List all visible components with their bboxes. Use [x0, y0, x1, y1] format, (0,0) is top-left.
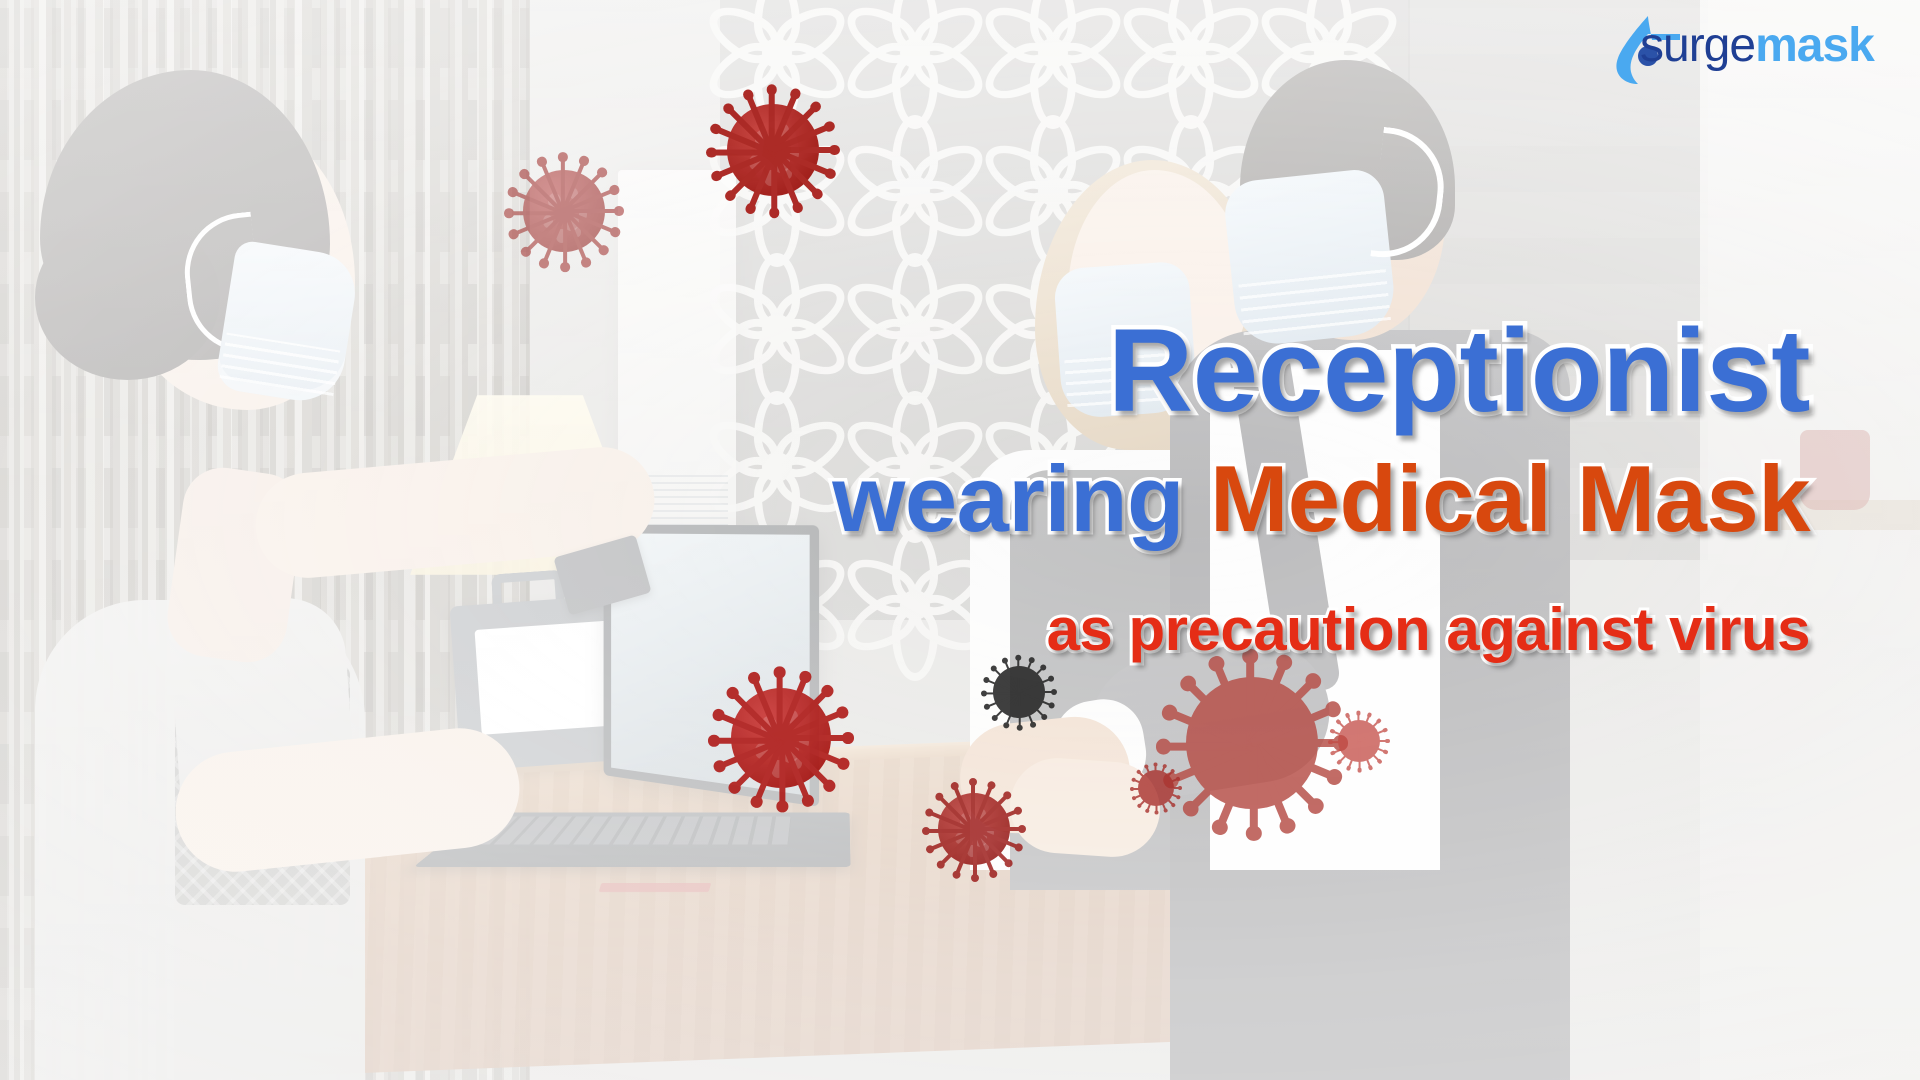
- lattice-flower: [990, 0, 1116, 116]
- promo-banner: Receptionist wearingMedical Mask as prec…: [0, 0, 1920, 1080]
- lattice-flower: [1128, 0, 1254, 116]
- virus-particle: [1138, 770, 1174, 806]
- right-wall: [1700, 0, 1920, 1080]
- lattice-flower-center: [1176, 38, 1206, 68]
- lattice-flower: [852, 542, 978, 668]
- virus-particle: [731, 688, 831, 788]
- lattice-flower: [852, 266, 978, 392]
- lattice-flower: [852, 404, 978, 530]
- virus-particle: [727, 104, 819, 196]
- red-vase: [1800, 430, 1870, 510]
- lattice-flower-center: [762, 452, 792, 482]
- lattice-flower-center: [900, 590, 930, 620]
- logo-wordmark: surgemask: [1640, 22, 1874, 70]
- virus-particle: [938, 793, 1010, 865]
- lattice-flower-center: [1038, 176, 1068, 206]
- logo-word-surge: surge: [1640, 19, 1755, 72]
- lattice-flower-center: [900, 38, 930, 68]
- background-photo: [0, 0, 1920, 1080]
- logo-word-mask: mask: [1755, 19, 1874, 72]
- card-terminal-screen: [475, 620, 622, 735]
- guest-man-medical-mask: [1222, 167, 1398, 348]
- virus-particle: [1338, 720, 1380, 762]
- lattice-flower: [852, 0, 978, 116]
- lattice-flower-center: [900, 452, 930, 482]
- lattice-flower-center: [900, 314, 930, 344]
- virus-particle: [523, 170, 605, 252]
- lattice-flower-center: [1038, 38, 1068, 68]
- lattice-flower-center: [762, 314, 792, 344]
- surge-mask-logo[interactable]: surgemask: [1582, 8, 1902, 90]
- virus-particle: [993, 666, 1045, 718]
- lattice-flower-center: [900, 176, 930, 206]
- virus-particle: [1186, 677, 1318, 809]
- lattice-flower-center: [762, 38, 792, 68]
- lattice-flower: [714, 0, 840, 116]
- laptop-trim-strip: [599, 883, 712, 892]
- lattice-flower: [852, 128, 978, 254]
